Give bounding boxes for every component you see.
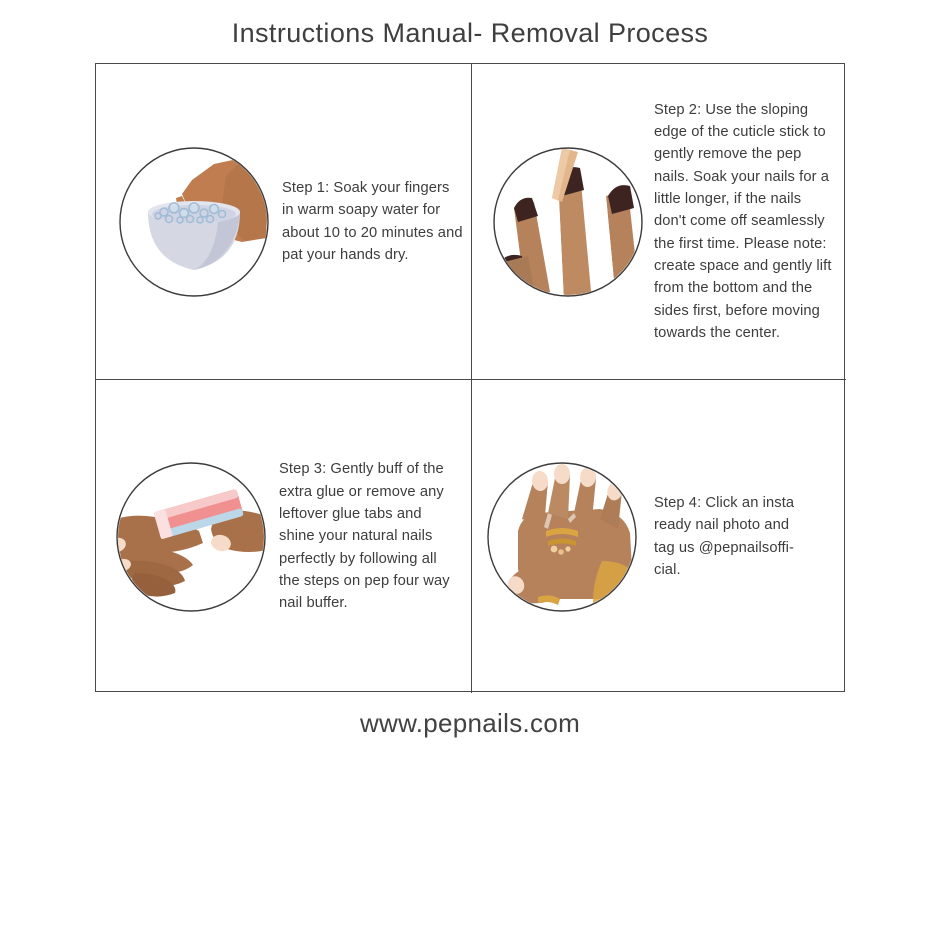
step-4-paragraph: Step 4: Click an insta ready nail photo … <box>654 492 806 581</box>
step-cell-4: Step 4: Click an insta ready nail photo … <box>471 379 846 693</box>
footer-website-url: www.pepnails.com <box>0 708 940 739</box>
hand-soaking-in-bowl-icon <box>114 142 274 302</box>
step-cell-3: Step 3: Gently buff of the extra glue or… <box>96 379 471 693</box>
step-3-text: Step 3: Gently buff of the extra glue or… <box>279 458 471 614</box>
step-cell-1: Step 1: Soak your fingers in warm soapy … <box>96 64 471 379</box>
step-3-paragraph: Step 3: Gently buff of the extra glue or… <box>279 458 459 614</box>
page-title: Instructions Manual- Removal Process <box>0 18 940 49</box>
step-1-paragraph: Step 1: Soak your fingers in warm soapy … <box>282 177 463 266</box>
steps-grid: Step 1: Soak your fingers in warm soapy … <box>95 63 845 692</box>
nail-buffer-on-hand-icon <box>111 457 271 617</box>
step-2-text: Step 2: Use the sloping edge of the cuti… <box>654 99 846 345</box>
step-2-paragraph: Step 2: Use the sloping edge of the cuti… <box>654 99 832 345</box>
step-1-text: Step 1: Soak your fingers in warm soapy … <box>282 177 471 266</box>
step-4-text: Step 4: Click an insta ready nail photo … <box>654 492 846 581</box>
cuticle-stick-on-nails-icon <box>488 142 648 302</box>
hand-with-rings-icon <box>482 457 642 617</box>
step-cell-2: Step 2: Use the sloping edge of the cuti… <box>471 64 846 379</box>
